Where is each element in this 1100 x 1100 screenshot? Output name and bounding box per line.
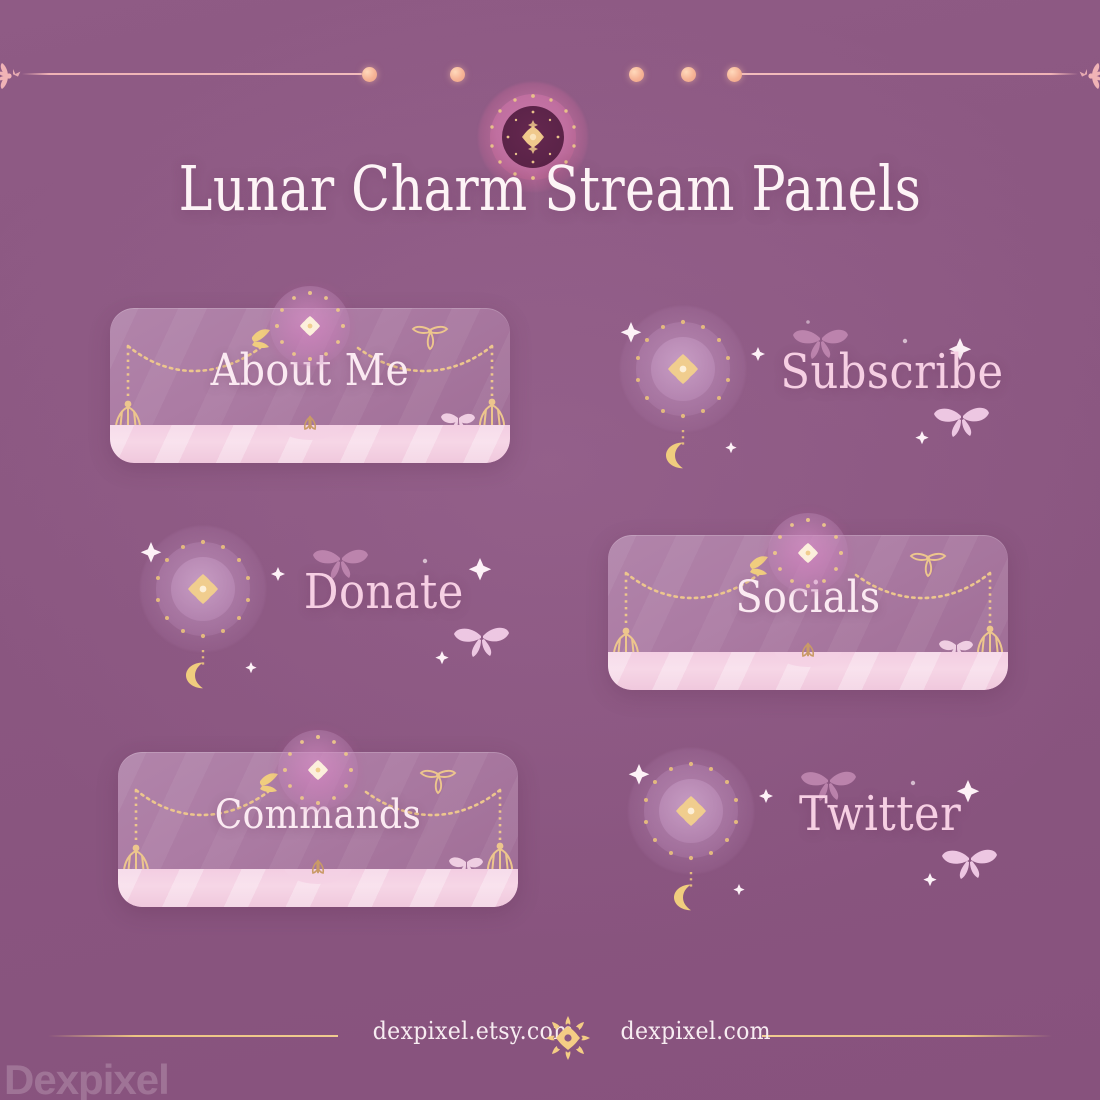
butterfly-icon <box>454 628 509 657</box>
panel-label: Donate <box>304 564 464 620</box>
panel-medallion <box>620 306 746 432</box>
panel-medallion <box>140 526 266 652</box>
panel-twitter[interactable]: Twitter <box>608 742 1008 912</box>
quatrefoil-motif <box>264 280 356 372</box>
panel-subscribe[interactable]: Subscribe <box>600 300 1000 470</box>
lotus-ornament-icon <box>788 638 828 660</box>
panel-badge <box>264 280 356 372</box>
lotus-ornament-icon <box>298 855 338 877</box>
lotus-ornament-icon <box>290 411 330 433</box>
divider-line-right <box>738 73 1078 75</box>
panel-about-me[interactable]: About Me <box>110 308 510 463</box>
canvas: Lunar Charm Stream Panels <box>0 0 1100 1100</box>
quatrefoil-motif <box>140 526 266 652</box>
watermark: Dexpixel <box>4 1056 169 1100</box>
divider-line-left <box>22 73 362 75</box>
footer-line-left <box>48 1035 338 1037</box>
panel-label: Subscribe <box>780 344 1003 400</box>
top-divider <box>0 62 1100 86</box>
panel-donate[interactable]: Donate <box>120 520 520 690</box>
crescent-moon-icon <box>186 662 203 688</box>
panel-badge <box>272 724 364 816</box>
panel-socials[interactable]: Socials <box>608 535 1008 690</box>
panel-badge <box>762 507 854 599</box>
footer: dexpixel.etsy.com dexpixel.com <box>0 1010 1100 1062</box>
footer-line-right <box>762 1035 1052 1037</box>
panel-label: Twitter <box>799 786 961 842</box>
page-title: Lunar Charm Stream Panels <box>99 152 1001 225</box>
divider-dot <box>727 67 742 82</box>
quatrefoil-motif <box>272 724 364 816</box>
divider-dot <box>681 67 696 82</box>
panel-medallion <box>628 748 754 874</box>
footer-site-url[interactable]: dexpixel.com <box>621 1017 771 1045</box>
quatrefoil-ornament <box>540 1010 596 1066</box>
quatrefoil-ornament <box>0 61 30 95</box>
crescent-moon-icon <box>666 442 683 468</box>
butterfly-icon <box>942 850 997 879</box>
quatrefoil-motif <box>620 306 746 432</box>
divider-dot <box>450 67 465 82</box>
quatrefoil-ornament <box>1070 61 1100 95</box>
quatrefoil-motif <box>628 748 754 874</box>
quatrefoil-motif <box>762 507 854 599</box>
divider-dot <box>362 67 377 82</box>
crescent-moon-icon <box>674 884 691 910</box>
panel-commands[interactable]: Commands <box>118 752 518 907</box>
butterfly-icon <box>934 408 989 437</box>
divider-dot <box>629 67 644 82</box>
